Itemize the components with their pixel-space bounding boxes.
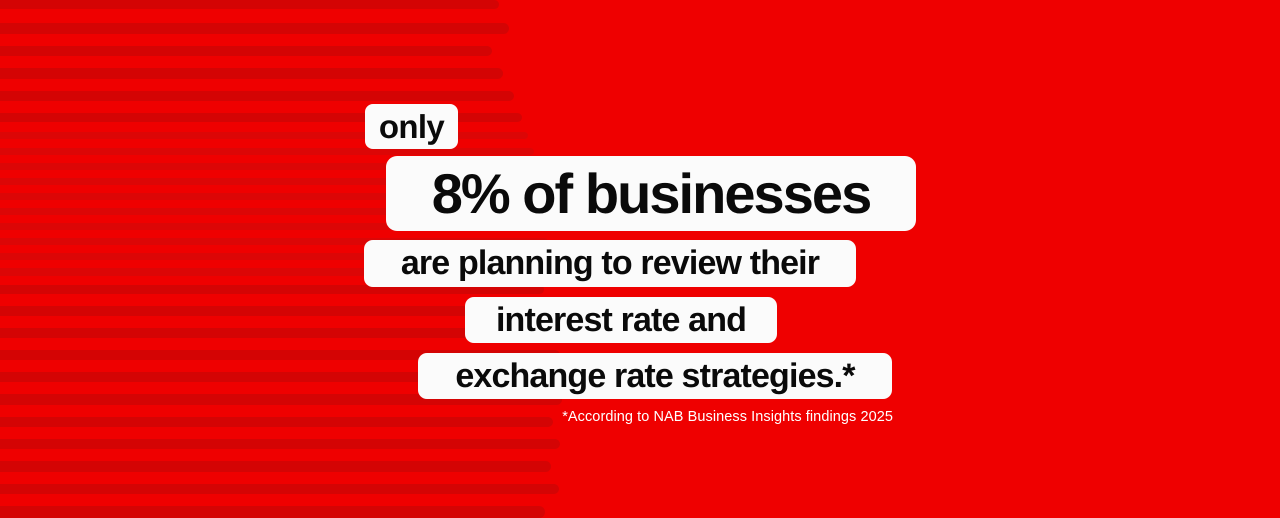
headline-line-4: interest rate and: [465, 297, 777, 343]
footnote-source: *According to NAB Business Insights find…: [562, 409, 893, 425]
headline-line-only: only: [365, 104, 458, 149]
promo-banner: only 8% of businesses are planning to re…: [0, 0, 1280, 518]
headline-line-5: exchange rate strategies.*: [418, 353, 892, 399]
headline-block: only 8% of businesses are planning to re…: [0, 0, 1280, 518]
headline-line-statistic: 8% of businesses: [386, 156, 916, 231]
headline-line-3: are planning to review their: [364, 240, 856, 287]
